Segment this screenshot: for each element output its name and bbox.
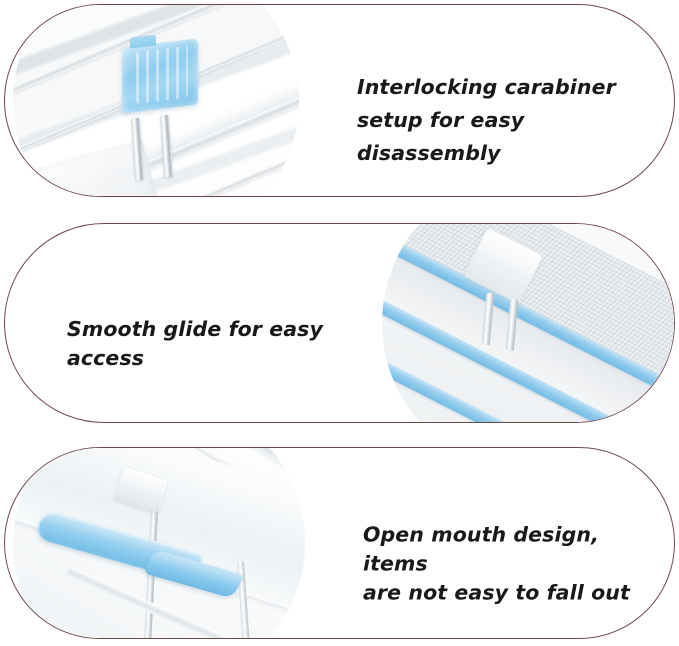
feature-panel-1: Interlocking carabiner setup for easy di…	[4, 4, 675, 197]
panel-2-caption: Smooth glide for easy access	[67, 314, 337, 372]
carabiner-clip	[122, 39, 198, 114]
product-photo-3-artwork	[13, 447, 305, 639]
product-photo-2	[382, 223, 675, 423]
panel-3-caption: Open mouth design, items are not easy to…	[363, 520, 663, 607]
product-photo-2-artwork	[382, 223, 675, 423]
product-photo-1	[13, 4, 299, 197]
product-photo-3	[13, 447, 305, 639]
panel-1-caption: Interlocking carabiner setup for easy di…	[357, 71, 667, 171]
product-photo-1-artwork	[13, 4, 299, 197]
feature-panel-2: Smooth glide for easy access	[4, 223, 675, 423]
feature-panel-3: Open mouth design, items are not easy to…	[4, 447, 675, 639]
